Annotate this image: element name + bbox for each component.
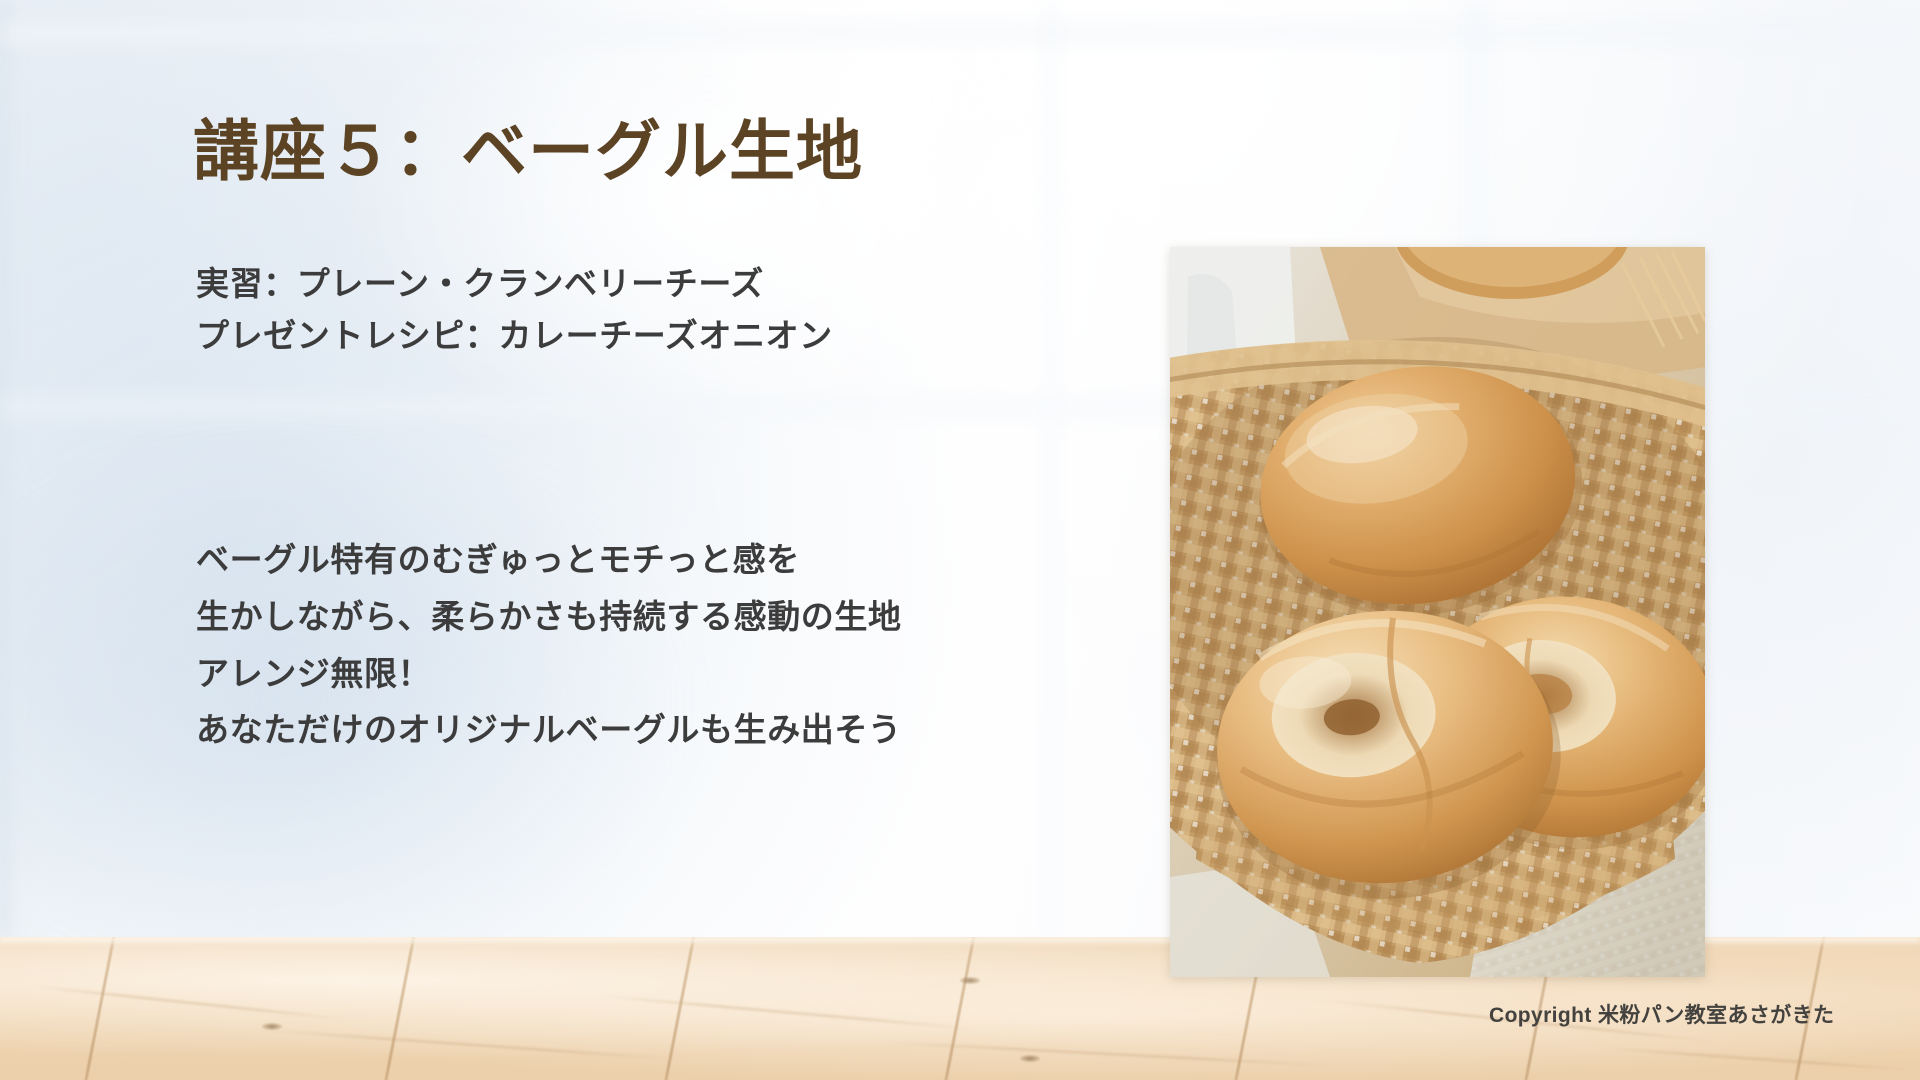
body-line-4: あなただけのオリジナルベーグルも生み出そう: [196, 702, 902, 759]
floor-knot: [960, 977, 980, 984]
window-light-glow: [330, 0, 1090, 460]
body-line-1: ベーグル特有のむぎゅっとモチっと感を: [196, 532, 902, 589]
floor-knot: [262, 1023, 282, 1030]
subtitle-line-1: 実習：プレーン・クランベリーチーズ: [196, 258, 833, 310]
bagel-photo: [1170, 247, 1705, 977]
floor-knot: [1020, 1055, 1040, 1062]
body-line-2: 生かしながら、柔らかさも持続する感動の生地: [196, 589, 902, 646]
slide-canvas: 講座５：ベーグル生地 実習：プレーン・クランベリーチーズ プレゼントレシピ：カレ…: [0, 0, 1920, 1080]
subtitle-block: 実習：プレーン・クランベリーチーズ プレゼントレシピ：カレーチーズオニオン: [196, 258, 833, 362]
window-mullion-middle: [1040, 0, 1062, 940]
body-line-3: アレンジ無限！: [196, 646, 902, 703]
bagel-photo-artwork: [1170, 247, 1705, 977]
body-text-block: ベーグル特有のむぎゅっとモチっと感を 生かしながら、柔らかさも持続する感動の生地…: [196, 532, 902, 759]
copyright-notice: Copyright 米粉パン教室あさがきた: [1489, 999, 1834, 1029]
page-title: 講座５：ベーグル生地: [193, 115, 863, 189]
window-mullion-left: [0, 0, 24, 940]
window-band-top: [0, 18, 1920, 48]
subtitle-line-2: プレゼントレシピ：カレーチーズオニオン: [196, 310, 833, 362]
